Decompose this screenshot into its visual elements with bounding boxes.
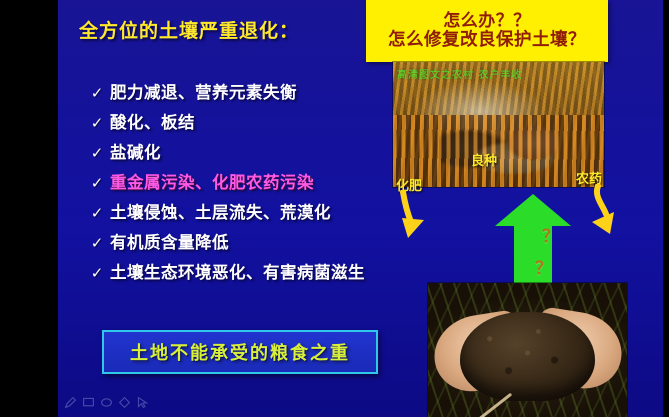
screen: 全方位的土壤严重退化： ✓ 肥力减退、营养元素失衡 ✓ 酸化、板结 ✓ 盐碱化 … [0,0,669,417]
bullet-text: 盐碱化 [110,140,161,166]
soil-mound [460,312,595,400]
photo-farmer-wheat: 高清图文之农村 农户丰收 [393,62,604,187]
bullet-text: 酸化、板结 [110,110,195,136]
check-icon: ✓ [84,260,110,286]
bullet-text: 土壤生态环境恶化、有害病菌滋生 [110,260,365,286]
pointer-icon[interactable] [136,396,149,409]
check-icon: ✓ [84,80,110,106]
question-mark-2: ？ [535,254,552,279]
photo-watermark-text: 高清图文之农村 农户丰收 [397,66,522,81]
list-item: ✓ 土壤侵蚀、土层流失、荒漠化 [84,200,419,230]
question-line-2: 怎么修复改良保护土壤？ [388,31,586,51]
bottom-callout-box: 土地不能承受的粮食之重 [102,330,378,374]
label-liangzhong: 良种 [471,150,497,169]
callout-text: 土地不能承受的粮食之重 [130,339,350,365]
list-item: ✓ 土壤生态环境恶化、有害病菌滋生 [84,260,419,290]
question-mark-1: ？ [542,222,559,247]
list-item: ✓ 酸化、板结 [84,110,419,140]
navigation-icon[interactable] [100,396,113,409]
question-callout-box: 怎么办？？ 怎么修复改良保护土壤？ [366,0,608,62]
arrow-down-right-icon [580,184,620,240]
question-line-1: 怎么办？？ [443,12,531,31]
bullet-text: 土壤侵蚀、土层流失、荒漠化 [110,200,331,226]
list-item: ✓ 重金属污染、化肥农药污染 [84,170,419,200]
check-icon: ✓ [84,110,110,136]
pen-icon[interactable] [64,396,77,409]
list-item: ✓ 有机质含量降低 [84,230,419,260]
slideshow-toolbar[interactable] [58,392,182,412]
bullet-text: 有机质含量降低 [110,230,229,256]
arrow-down-left-icon [394,190,432,244]
list-item: ✓ 肥力减退、营养元素失衡 [84,80,419,110]
slide-title: 全方位的土壤严重退化： [79,16,299,43]
wheat-foreground [393,115,604,188]
check-icon: ✓ [84,140,110,166]
bullet-text: 肥力减退、营养元素失衡 [110,80,297,106]
bullet-text-highlighted: 重金属污染、化肥农药污染 [110,170,314,196]
check-icon: ✓ [84,230,110,256]
photo-hands-soil [428,283,627,417]
screen-icon[interactable] [82,396,95,409]
presentation-slide: 全方位的土壤严重退化： ✓ 肥力减退、营养元素失衡 ✓ 酸化、板结 ✓ 盐碱化 … [58,0,663,417]
check-icon: ✓ [84,170,110,196]
highlighter-icon[interactable] [118,396,131,409]
check-icon: ✓ [84,200,110,226]
bullet-list: ✓ 肥力减退、营养元素失衡 ✓ 酸化、板结 ✓ 盐碱化 ✓ 重金属污染、化肥农药… [84,80,419,290]
list-item: ✓ 盐碱化 [84,140,419,170]
